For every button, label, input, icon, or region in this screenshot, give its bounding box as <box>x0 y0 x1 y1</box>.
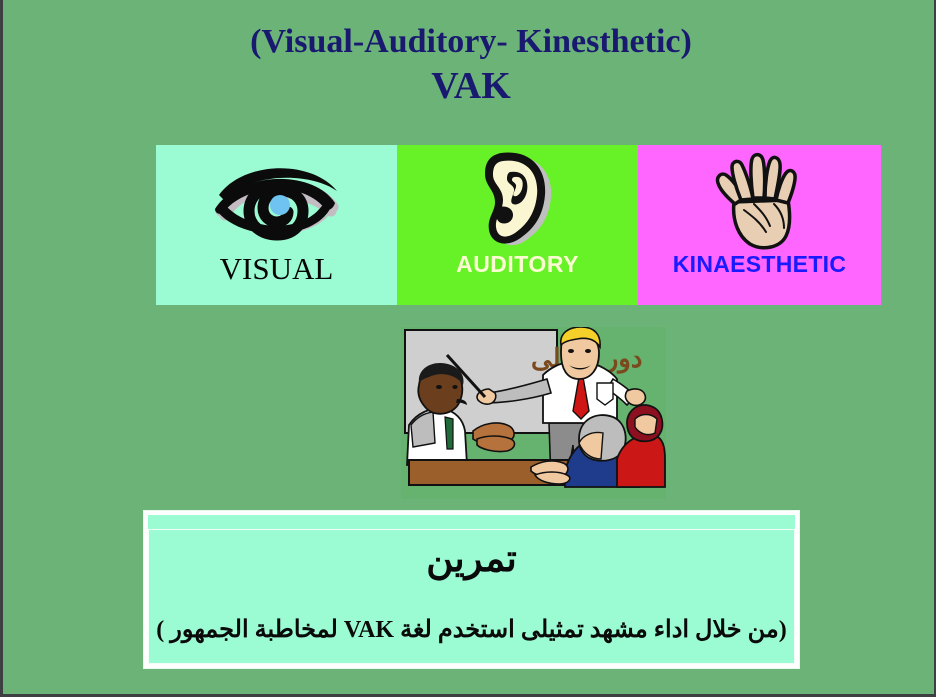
hand-icon <box>708 145 812 253</box>
modality-strip: VISUAL AUDITORY <box>156 145 881 305</box>
modality-label-auditory: AUDITORY <box>456 253 579 276</box>
eye-icon <box>209 145 345 253</box>
exercise-callout-box: تمرين (من خلال اداء مشهد تمثيلى استخدم ل… <box>144 511 799 668</box>
modality-card-kinaesthetic[interactable]: KINAESTHETIC <box>638 145 881 305</box>
slide-title-subtitle: (Visual-Auditory- Kinesthetic) <box>3 22 936 61</box>
ear-icon <box>463 145 573 253</box>
slide-title-acronym: VAK <box>3 65 936 109</box>
slide-title-block: (Visual-Auditory- Kinesthetic) VAK <box>3 22 936 109</box>
modality-card-visual[interactable]: VISUAL <box>156 145 397 305</box>
modality-label-visual: VISUAL <box>220 253 334 284</box>
exercise-body-text: (من خلال اداء مشهد تمثيلى استخدم لغة VAK… <box>156 615 787 645</box>
modality-label-kinaesthetic: KINAESTHETIC <box>673 253 847 276</box>
presentation-slide: (Visual-Auditory- Kinesthetic) VAK <box>0 0 936 697</box>
exercise-heading: تمرين <box>426 540 517 581</box>
classroom-presentation-illustration: دور تمثيلى <box>401 327 666 499</box>
exercise-inner-frame: تمرين (من خلال اداء مشهد تمثيلى استخدم ل… <box>148 529 795 664</box>
modality-card-auditory[interactable]: AUDITORY <box>397 145 638 305</box>
